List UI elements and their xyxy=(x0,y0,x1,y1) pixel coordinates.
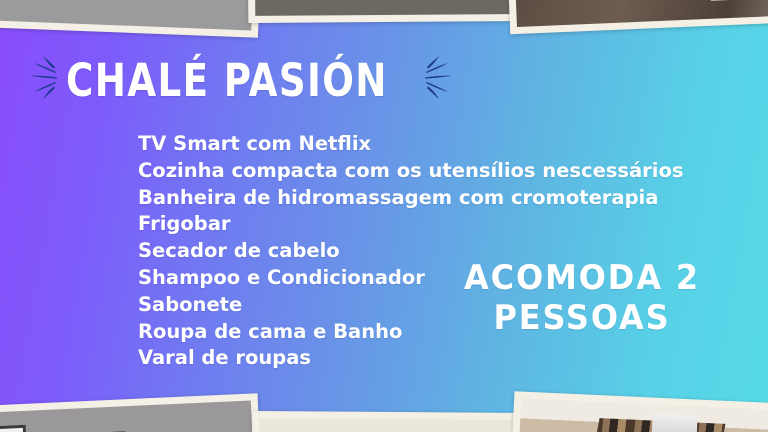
photo-image-staircase xyxy=(517,399,768,432)
top-photo-strip xyxy=(0,0,768,42)
capacity-line-2: PESSOAS xyxy=(441,298,723,338)
list-item: Banheira de hidromassagem com cromoterap… xyxy=(138,185,683,212)
list-item: Varal de roupas xyxy=(138,345,683,372)
photo-card-bottom-3 xyxy=(510,391,768,432)
sparkle-burst-left-icon xyxy=(24,55,62,106)
promotional-poster: CHALÉ PASIÓN TV Smart com Netflix Cozinh… xyxy=(0,0,768,432)
photo-card-bottom-2 xyxy=(252,411,533,432)
list-item: Cozinha compacta com os utensílios nesce… xyxy=(138,158,683,185)
photo-card-top-3 xyxy=(506,0,768,34)
photo-image-grey-wall xyxy=(0,401,255,432)
sparkle-burst-right-icon xyxy=(420,55,458,106)
photo-image-wooden-interior xyxy=(513,0,768,27)
poster-title-row: CHALÉ PASIÓN xyxy=(24,55,458,106)
photo-card-top-2 xyxy=(248,0,531,23)
photo-image-kitchen xyxy=(259,418,526,432)
capacity-block: ACOMODA 2 PESSOAS xyxy=(441,258,723,338)
photo-image-bedroom xyxy=(0,0,255,30)
list-item: TV Smart com Netflix xyxy=(138,131,683,158)
capacity-line-1: ACOMODA 2 xyxy=(441,258,723,298)
photo-image-bathroom xyxy=(255,0,524,16)
page-title: CHALÉ PASIÓN xyxy=(66,58,388,103)
bottom-photo-strip xyxy=(0,390,768,432)
photo-card-top-1 xyxy=(0,0,262,38)
list-item: Frigobar xyxy=(138,211,683,238)
photo-card-bottom-1 xyxy=(0,393,262,432)
